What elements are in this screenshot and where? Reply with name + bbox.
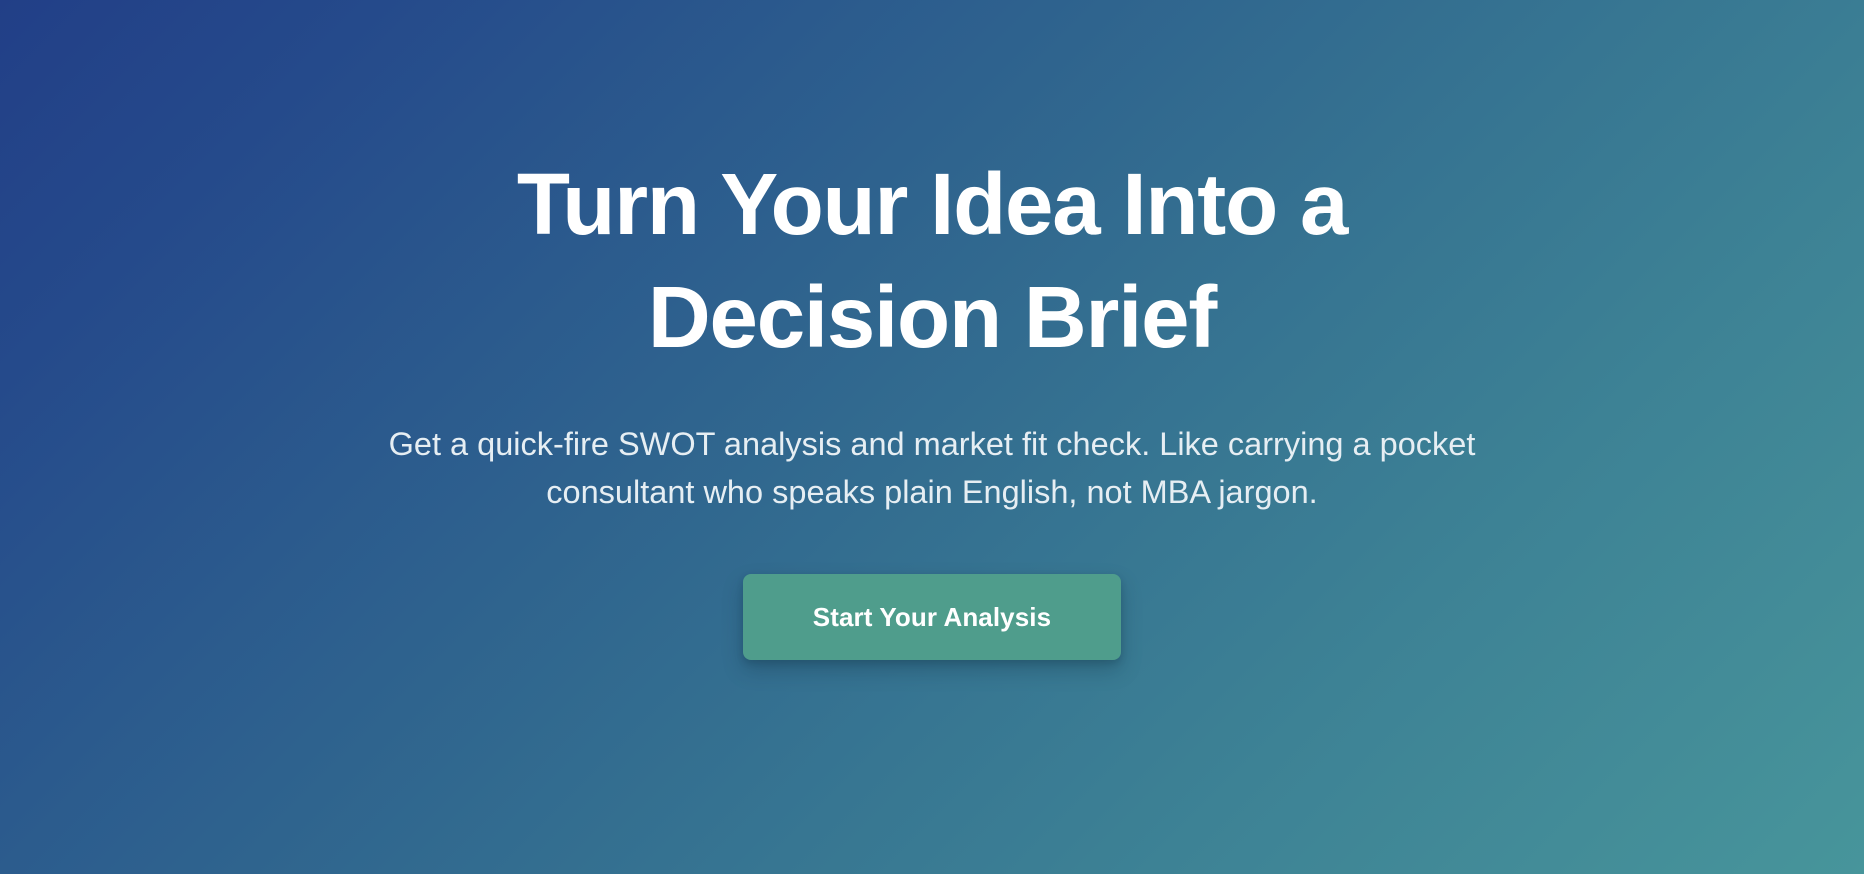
page-title: Turn Your Idea Into a Decision Brief — [312, 148, 1552, 374]
start-analysis-button[interactable]: Start Your Analysis — [743, 574, 1121, 660]
hero-subtitle-line-2: consultant who speaks plain English, not… — [262, 468, 1602, 516]
hero-section: Turn Your Idea Into a Decision Brief Get… — [0, 0, 1864, 874]
hero-subtitle: Get a quick-fire SWOT analysis and marke… — [262, 420, 1602, 516]
page-title-line-2: Decision Brief — [312, 261, 1552, 374]
page-title-line-1: Turn Your Idea Into a — [312, 148, 1552, 261]
hero-subtitle-line-1: Get a quick-fire SWOT analysis and marke… — [262, 420, 1602, 468]
cta-container: Start Your Analysis — [0, 574, 1864, 660]
